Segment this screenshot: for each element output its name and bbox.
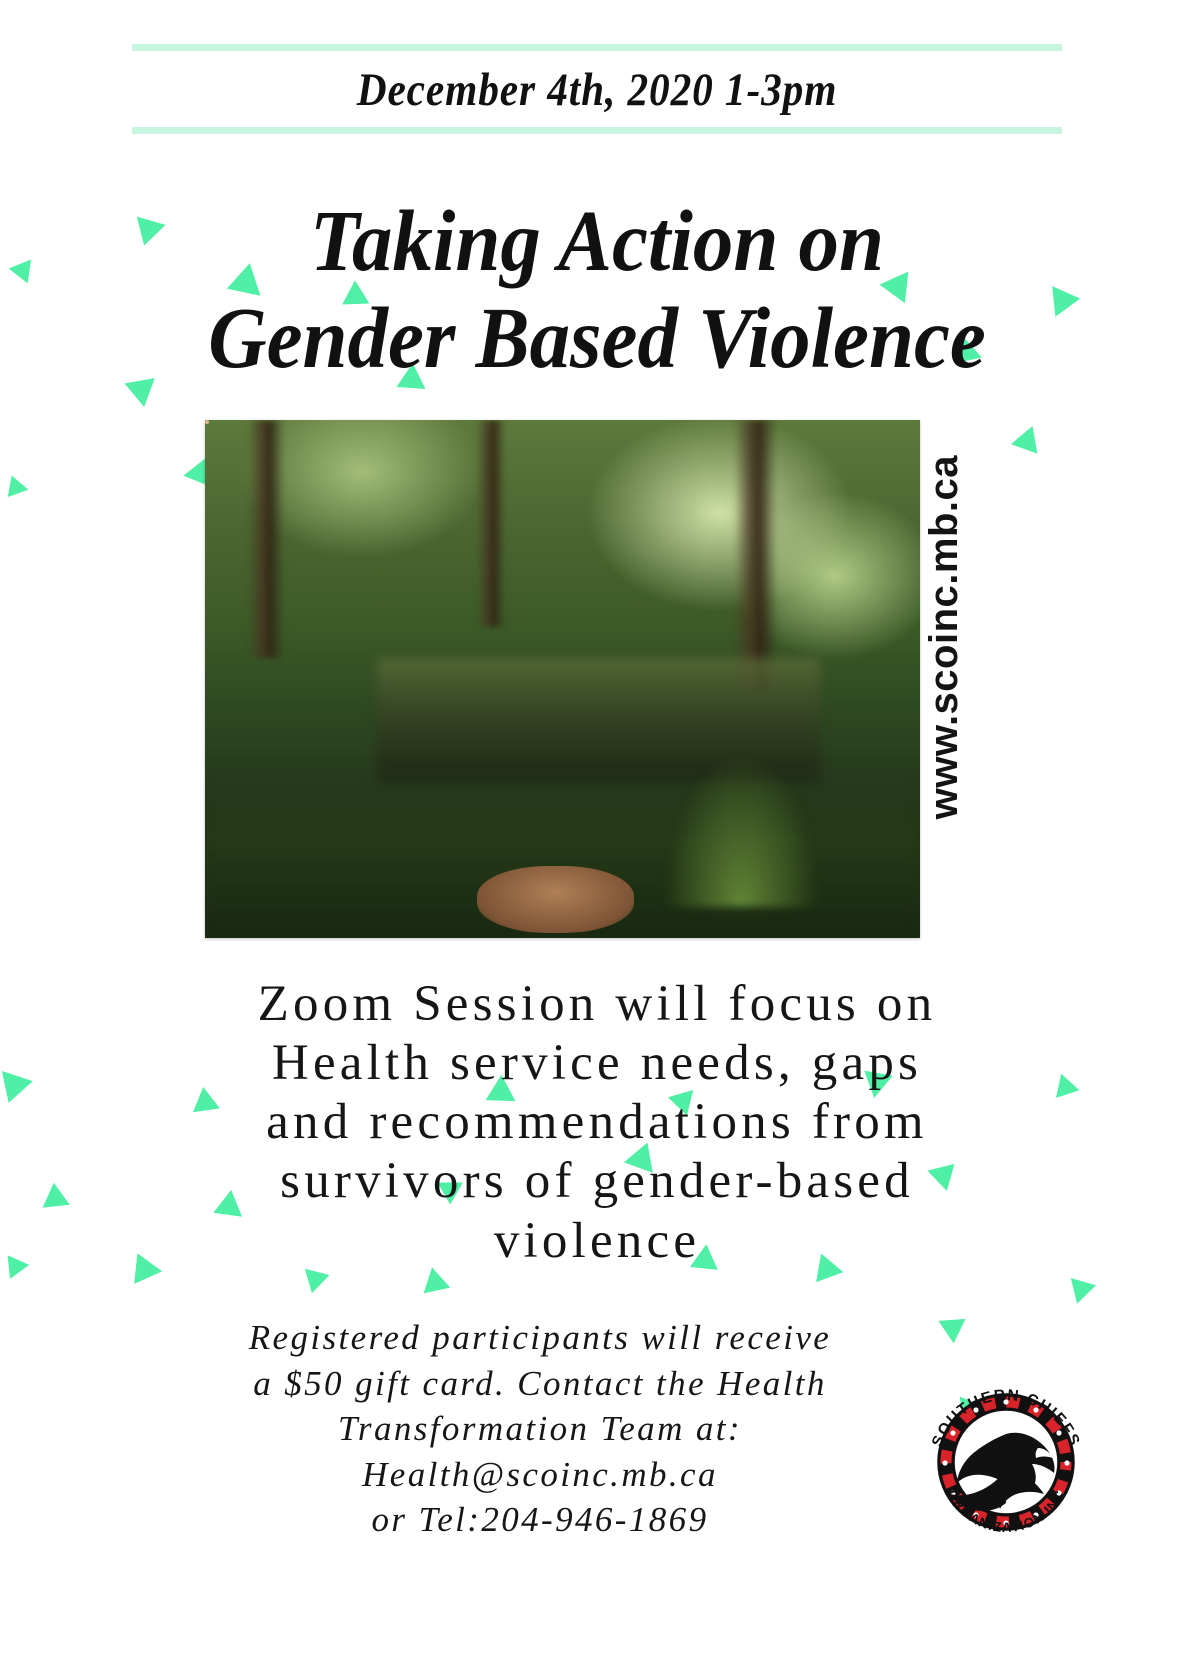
triangle-decoration xyxy=(2,1065,36,1103)
contact-information: Registered participants will receive a $… xyxy=(100,1315,980,1543)
triangle-decoration xyxy=(8,1253,31,1279)
contact-line: Registered participants will receive xyxy=(100,1315,980,1361)
triangle-decoration xyxy=(424,1267,455,1300)
southern-chiefs-organization-logo: SOUTHERN CHIEFS ORGANIZATION INC xyxy=(916,1372,1096,1552)
hoop-earring-icon xyxy=(205,420,209,424)
contact-phone[interactable]: or Tel:204-946-1869 xyxy=(100,1497,980,1543)
page-title: Taking Action on Gender Based Violence xyxy=(0,192,1194,387)
triangle-decoration xyxy=(43,1183,76,1218)
bottom-divider-rule xyxy=(132,127,1062,134)
fern-plant xyxy=(663,752,820,907)
triangle-decoration xyxy=(8,476,31,501)
poster-canvas: December 4th, 2020 1-3pm Taking Action o… xyxy=(0,0,1194,1673)
contact-line: a $50 gift card. Contact the Health xyxy=(100,1361,980,1407)
hero-photo-illustration xyxy=(205,420,920,938)
session-description-line: violence xyxy=(100,1212,1094,1271)
session-description: Zoom Session will focus on Health servic… xyxy=(100,975,1094,1271)
joined-hands xyxy=(477,866,634,933)
website-url-vertical[interactable]: www.scoinc.mb.ca xyxy=(922,455,967,819)
contact-line: Transformation Team at: xyxy=(100,1406,980,1452)
session-description-line: and recommendations from xyxy=(100,1093,1094,1152)
top-divider-rule xyxy=(132,44,1062,51)
triangle-decoration xyxy=(1071,1272,1100,1303)
tree-trunk-icon xyxy=(734,420,777,689)
session-description-line: survivors of gender-based xyxy=(100,1152,1094,1211)
date-header: December 4th, 2020 1-3pm xyxy=(0,44,1194,134)
eagle-head-highlight xyxy=(1036,1448,1053,1458)
event-date-text: December 4th, 2020 1-3pm xyxy=(72,51,1123,127)
tree-trunk-icon xyxy=(248,420,284,658)
contact-email[interactable]: Health@scoinc.mb.ca xyxy=(100,1452,980,1498)
hero-photo xyxy=(205,420,920,938)
tree-trunk-icon xyxy=(477,420,506,627)
session-description-line: Health service needs, gaps xyxy=(100,1034,1094,1093)
triangle-decoration xyxy=(1009,426,1038,458)
title-line-2: Gender Based Violence xyxy=(42,289,1152,386)
title-line-1: Taking Action on xyxy=(42,192,1152,289)
session-description-line: Zoom Session will focus on xyxy=(100,975,1094,1034)
